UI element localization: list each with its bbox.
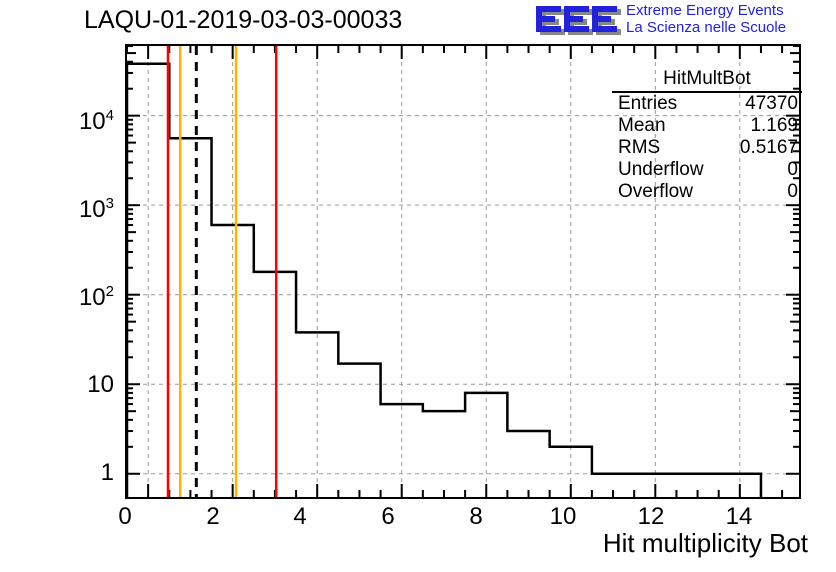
stats-row-key: Mean	[618, 115, 666, 137]
stats-box-title: HitMultBot	[612, 67, 802, 93]
stats-row: Entries47370	[612, 93, 802, 115]
x-tick-label-4: 4	[280, 503, 320, 531]
x-tick-label-12: 12	[631, 503, 671, 531]
stats-row-key: Underflow	[618, 159, 704, 181]
stats-row-value: 1.169	[750, 115, 798, 137]
stats-row-value: 0.5167	[740, 137, 798, 159]
stats-box-rows: Entries47370Mean1.169RMS0.5167Underflow0…	[612, 93, 802, 203]
eee-logo-mark	[534, 2, 626, 40]
eee-logo-text: Extreme Energy Events La Scienza nelle S…	[626, 2, 786, 36]
x-tick-label-2: 2	[193, 503, 233, 531]
page-title: LAQU-01-2019-03-03-00033	[84, 6, 402, 35]
x-axis-title: Hit multiplicity Bot	[603, 528, 808, 559]
x-tick-label-10: 10	[543, 503, 583, 531]
x-tick-label-6: 6	[368, 503, 408, 531]
eee-logo-line-1: Extreme Energy Events	[626, 2, 786, 19]
stats-row-key: Entries	[618, 93, 677, 115]
y-tick-label-1e3: 103	[46, 195, 114, 224]
stats-row: Underflow0	[612, 159, 802, 181]
stats-row-key: RMS	[618, 137, 660, 159]
y-tick-label-1e2: 102	[46, 283, 114, 312]
stats-row-value: 47370	[745, 93, 798, 115]
y-tick-label-1e4: 104	[46, 107, 114, 136]
x-tick-label-8: 8	[456, 503, 496, 531]
y-tick-label-10: 10	[46, 371, 114, 399]
stats-row-value: 0	[787, 181, 798, 203]
stats-row: RMS0.5167	[612, 137, 802, 159]
stats-row-key: Overflow	[618, 181, 693, 203]
x-tick-label-14: 14	[719, 503, 759, 531]
y-tick-label-1: 1	[46, 459, 114, 487]
eee-logo-line-2: La Scienza nelle Scuole	[626, 19, 786, 36]
x-tick-label-0: 0	[105, 503, 145, 531]
stats-row: Mean1.169	[612, 115, 802, 137]
stats-row-value: 0	[787, 159, 798, 181]
stats-box: HitMultBot Entries47370Mean1.169RMS0.516…	[612, 67, 802, 202]
eee-logo: Extreme Energy Events La Scienza nelle S…	[534, 2, 834, 42]
stats-row: Overflow0	[612, 181, 802, 203]
root-canvas: LAQU-01-2019-03-03-00033	[0, 0, 836, 572]
